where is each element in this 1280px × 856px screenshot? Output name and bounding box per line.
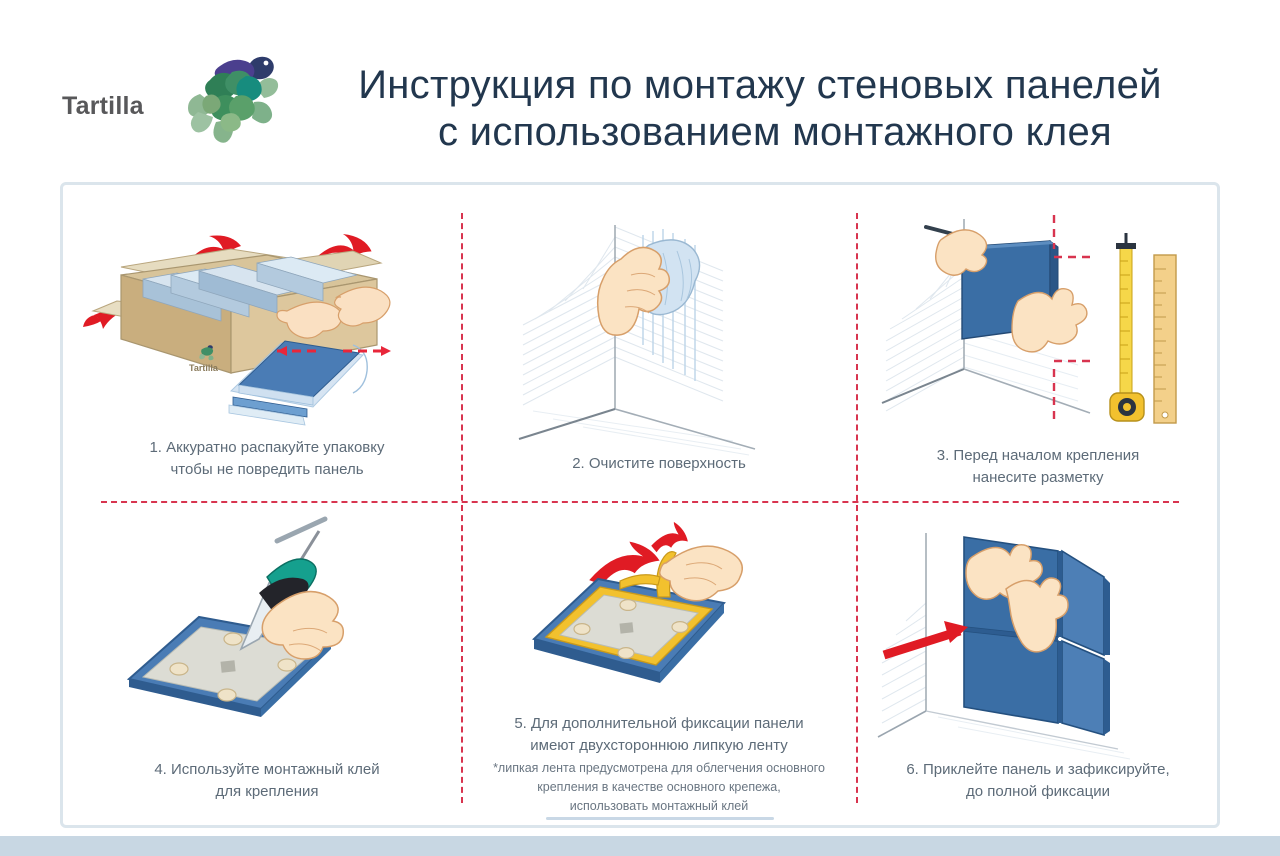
step-5-footnote-line-3: использовать монтажный клей [468,797,850,816]
turtle-logo-icon [186,46,282,144]
step-1-caption-line-1: 1. Аккуратно распакуйте упаковку [81,437,453,459]
step-5-caption-line-2: имеют двухстороннюю липкую ленту [468,735,850,757]
step-5-footnote-line-2: крепления в качестве основного крепежа, [468,778,850,797]
step-5: 5. Для дополнительной фиксации панели им… [468,521,850,811]
step-3-caption: 3. Перед началом крепления нанесите разм… [868,445,1208,489]
step-3-illustration [868,205,1208,455]
divider-vertical-1 [461,213,463,803]
step-4-caption-line-1: 4. Используйте монтажный клей [81,759,453,781]
step-4-illustration [81,521,453,761]
divider-horizontal-1 [101,501,1179,503]
brand-name: Tartilla [62,92,144,121]
step-5-underline [546,817,774,820]
step-2-caption: 2. Очистите поверхность [473,453,845,475]
step-2-illustration [473,205,845,455]
step-4-caption: 4. Используйте монтажный клей для крепле… [81,759,453,803]
step-5-footnote: *липкая лента предусмотрена для облегчен… [468,759,850,815]
poster-header: Tartilla [0,0,1280,176]
step-6: 6. Приклейте панель и зафиксируйте, до п… [868,521,1208,811]
step-1-illustration: Tartilla [81,205,453,455]
step-6-caption-line-1: 6. Приклейте панель и зафиксируйте, [868,759,1208,781]
title-line-1: Инструкция по монтажу стеновых панелей [280,62,1240,109]
step-3-caption-line-1: 3. Перед началом крепления [868,445,1208,467]
step-1: Tartilla [81,205,453,495]
step-1-caption-line-2: чтобы не повредить панель [81,459,453,481]
step-6-illustration [868,521,1208,761]
step-4-caption-line-2: для крепления [81,781,453,803]
step-3: 3. Перед началом крепления нанесите разм… [868,205,1208,495]
instruction-poster: Tartilla [0,0,1280,856]
step-2: 2. Очистите поверхность [473,205,845,495]
divider-vertical-2 [856,213,858,803]
step-5-footnote-line-1: *липкая лента предусмотрена для облегчен… [468,759,850,778]
step-6-caption: 6. Приклейте панель и зафиксируйте, до п… [868,759,1208,803]
steps-frame: Tartilla [60,182,1220,828]
step-3-caption-line-2: нанесите разметку [868,467,1208,489]
step-1-caption: 1. Аккуратно распакуйте упаковку чтобы н… [81,437,453,481]
svg-text:Tartilla: Tartilla [189,363,219,373]
step-4: 4. Используйте монтажный клей для крепле… [81,521,453,811]
step-2-caption-line-1: 2. Очистите поверхность [473,453,845,475]
step-5-caption-line-1: 5. Для дополнительной фиксации панели [468,713,850,735]
page-title: Инструкция по монтажу стеновых панелей с… [280,62,1240,156]
step-5-illustration [468,521,850,721]
footer-bar [0,836,1280,856]
title-line-2: с использованием монтажного клея [280,109,1240,156]
step-5-caption: 5. Для дополнительной фиксации панели им… [468,713,850,757]
step-6-caption-line-2: до полной фиксации [868,781,1208,803]
